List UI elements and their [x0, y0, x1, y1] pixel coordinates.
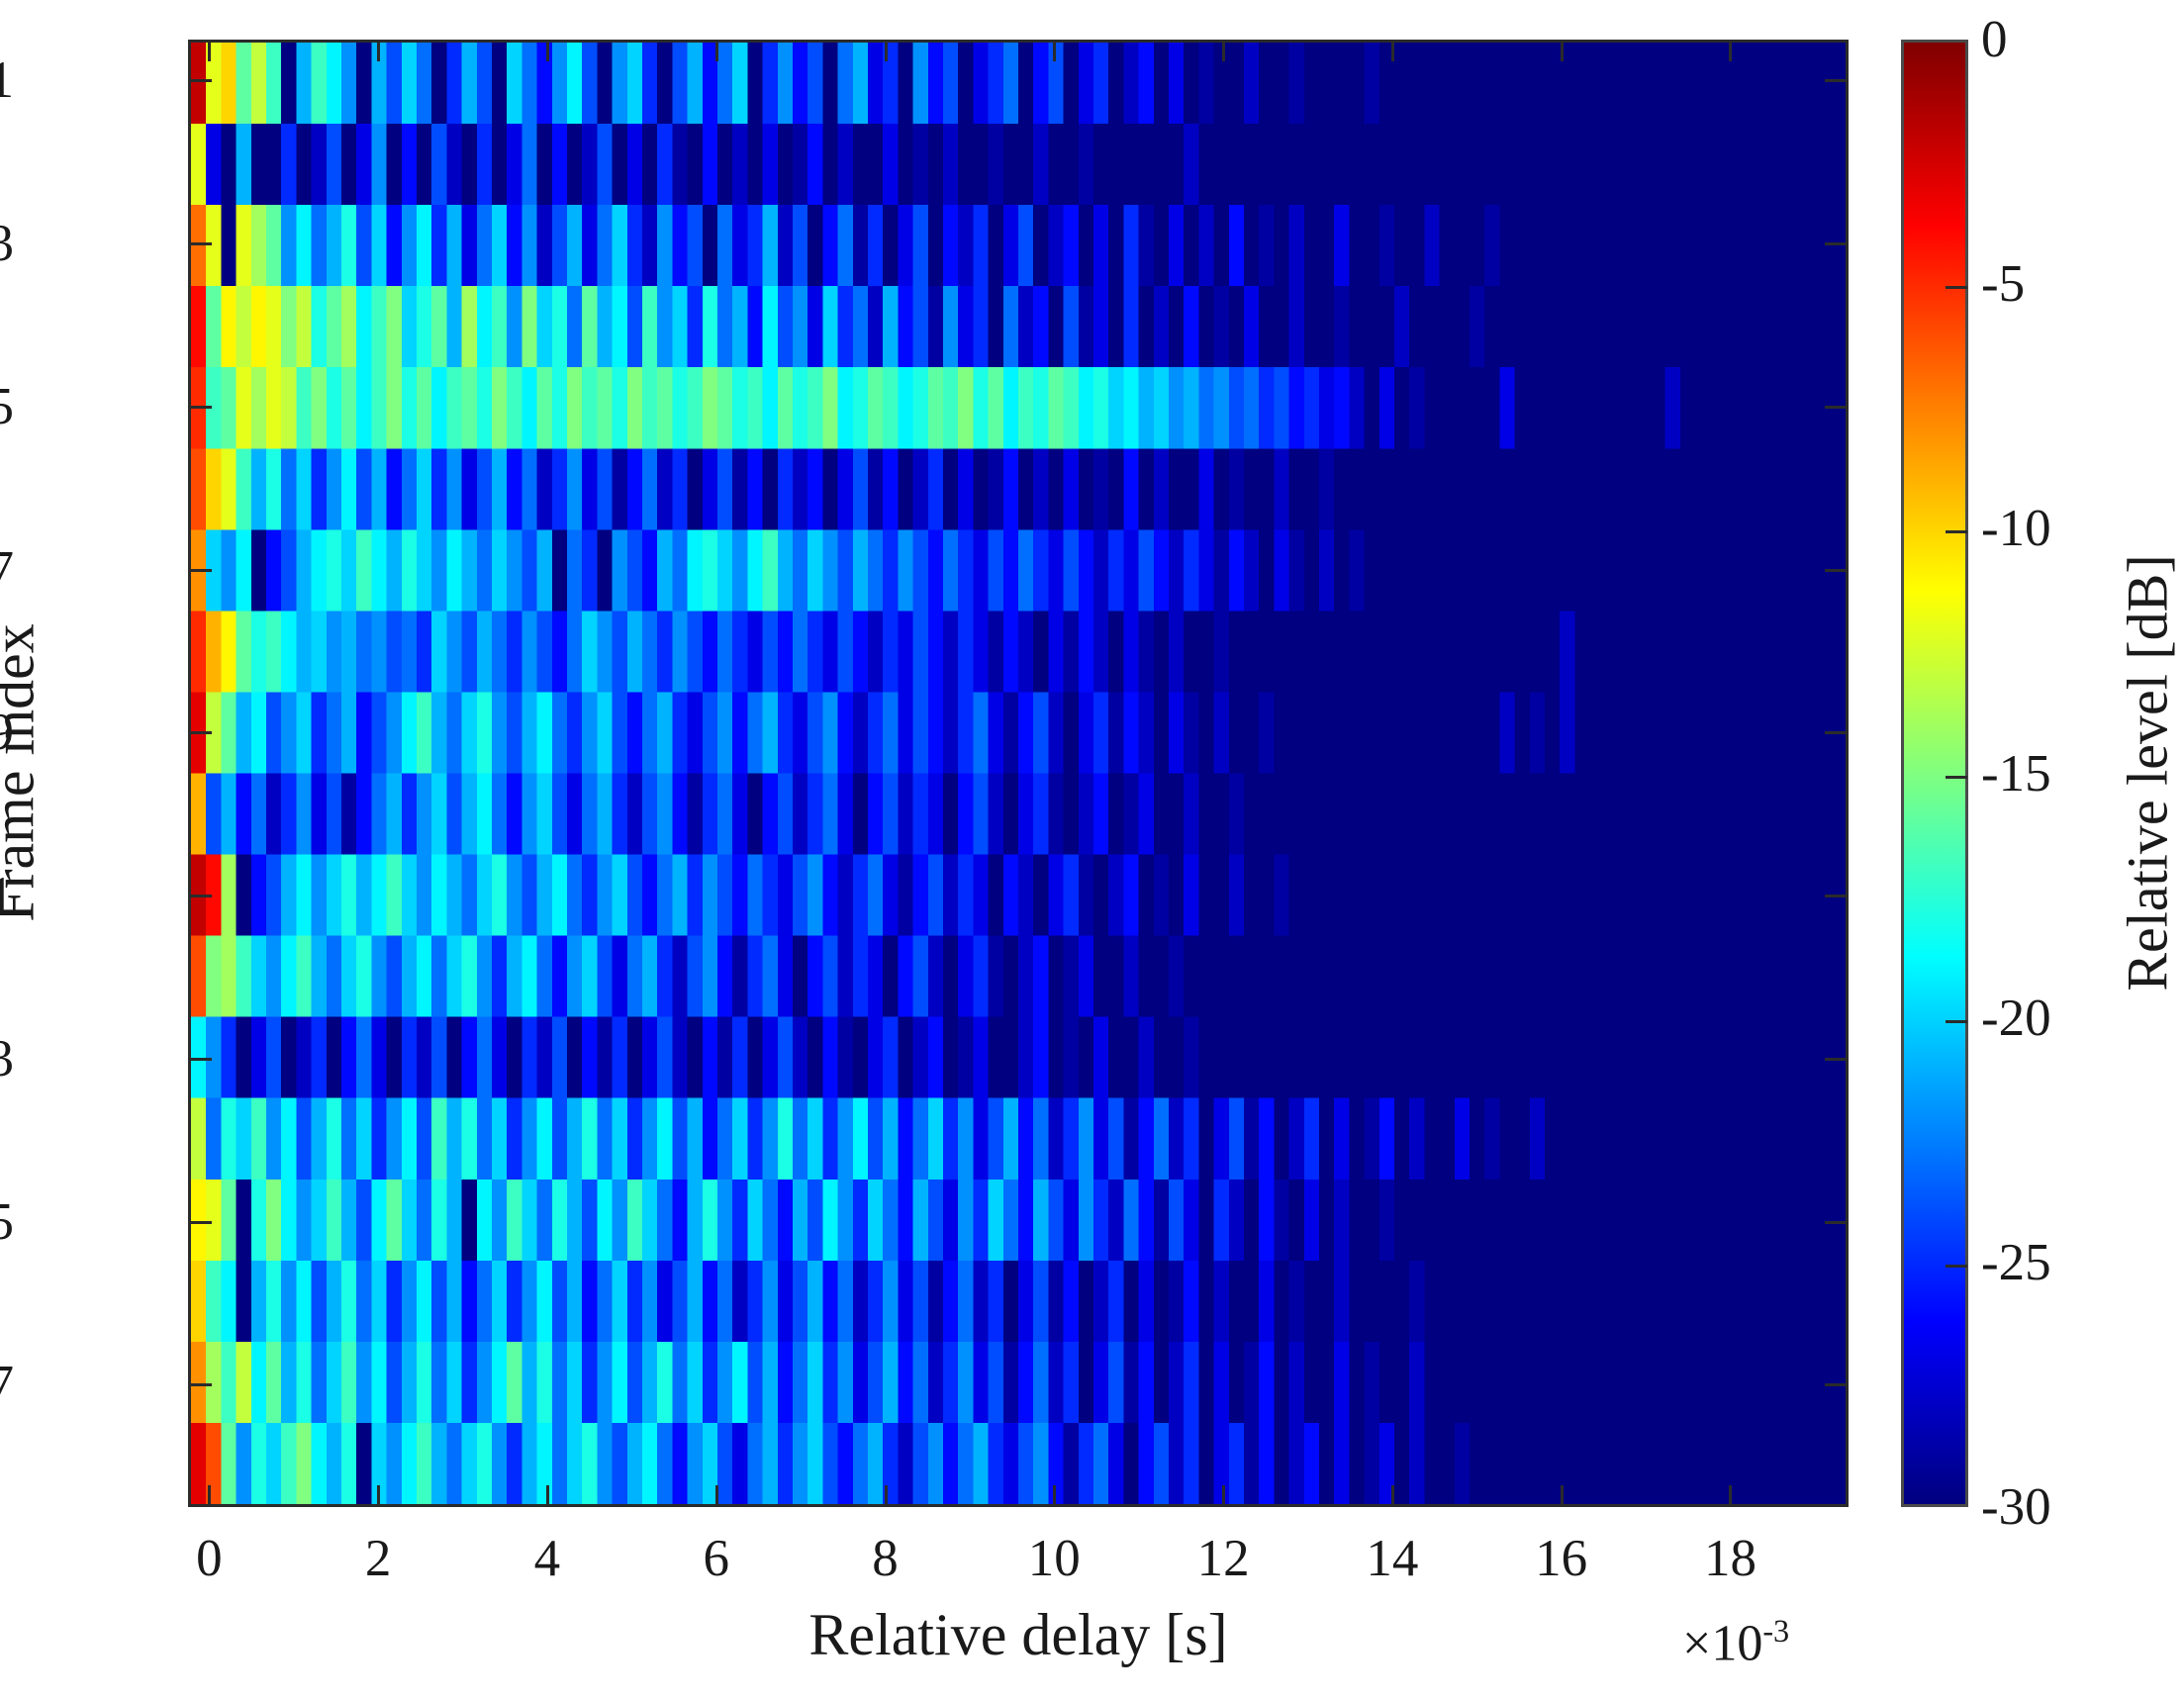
- y-tick-mark: [188, 406, 212, 409]
- y-tick-label: 7: [0, 540, 14, 600]
- colorbar-tick-mark: [1946, 1265, 1967, 1268]
- y-tick-mark-right: [1825, 1383, 1849, 1386]
- x-axis-title: Relative delay [s]: [808, 1601, 1227, 1669]
- y-tick-mark: [188, 1221, 212, 1224]
- x-tick-label: 6: [703, 1529, 729, 1588]
- y-tick-mark: [188, 731, 212, 734]
- y-tick-label: 11: [0, 866, 14, 925]
- x-tick-mark-top: [1053, 40, 1056, 61]
- colorbar-tick-label: -10: [1981, 499, 2051, 558]
- x-tick-label: 2: [365, 1529, 392, 1588]
- y-tick-label: 5: [0, 377, 14, 436]
- x-tick-mark-top: [1391, 40, 1394, 61]
- x-tick-label: 4: [534, 1529, 561, 1588]
- x-tick-label: 12: [1197, 1529, 1250, 1588]
- y-tick-label: 1: [0, 50, 14, 110]
- x-tick-label: 10: [1028, 1529, 1081, 1588]
- y-tick-mark-right: [1825, 406, 1849, 409]
- y-tick-mark-right: [1825, 569, 1849, 572]
- x-tick-mark-top: [1561, 40, 1564, 61]
- colorbar-tick-label: 0: [1981, 10, 2008, 69]
- heatmap-canvas: [191, 43, 1846, 1504]
- colorbar-tick-mark: [1946, 530, 1967, 533]
- colorbar-tick-mark: [1946, 286, 1967, 289]
- y-tick-label: 9: [0, 703, 14, 762]
- heatmap-cells: [191, 43, 1846, 1504]
- x-tick-mark: [1222, 1485, 1225, 1507]
- x-tick-mark: [1053, 1485, 1056, 1507]
- colorbar[interactable]: [1901, 40, 1968, 1507]
- x-tick-mark: [885, 1485, 888, 1507]
- x-tick-mark-top: [377, 40, 380, 61]
- y-tick-label: 3: [0, 214, 14, 273]
- colorbar-tick-label: -30: [1981, 1477, 2051, 1537]
- x-tick-mark: [208, 1485, 211, 1507]
- y-tick-label: 15: [0, 1192, 14, 1252]
- y-tick-mark-right: [1825, 242, 1849, 245]
- colorbar-tick-label: -5: [1981, 254, 2025, 314]
- y-tick-mark: [188, 569, 212, 572]
- colorbar-tick-mark: [1946, 776, 1967, 779]
- y-tick-mark: [188, 1383, 212, 1386]
- x-tick-label: 14: [1366, 1529, 1418, 1588]
- x-tick-label: 18: [1704, 1529, 1757, 1588]
- colorbar-tick-label: -15: [1981, 744, 2051, 803]
- y-tick-mark: [188, 242, 212, 245]
- colorbar-gradient: [1904, 43, 1965, 1504]
- x-tick-label: 8: [872, 1529, 899, 1588]
- x-tick-mark-top: [1729, 40, 1732, 61]
- heatmap-plot-area[interactable]: [188, 40, 1849, 1507]
- x-axis-exponent: ×10-3: [1682, 1613, 1789, 1672]
- x-tick-mark-top: [546, 40, 549, 61]
- x-tick-mark: [715, 1485, 718, 1507]
- x-tick-mark-top: [885, 40, 888, 61]
- y-tick-label: 17: [0, 1355, 14, 1414]
- y-tick-mark-right: [1825, 1058, 1849, 1061]
- y-tick-mark-right: [1825, 1221, 1849, 1224]
- y-tick-mark-right: [1825, 895, 1849, 897]
- x-tick-label: 16: [1535, 1529, 1587, 1588]
- y-tick-mark-right: [1825, 79, 1849, 82]
- y-tick-mark: [188, 79, 212, 82]
- x-tick-mark-top: [715, 40, 718, 61]
- x-tick-label: 0: [196, 1529, 223, 1588]
- x-tick-mark: [1729, 1485, 1732, 1507]
- y-tick-label: 13: [0, 1029, 14, 1088]
- y-tick-mark: [188, 1058, 212, 1061]
- x-tick-mark-top: [208, 40, 211, 61]
- x-tick-mark: [377, 1485, 380, 1507]
- x-tick-mark: [546, 1485, 549, 1507]
- colorbar-tick-label: -25: [1981, 1233, 2051, 1292]
- colorbar-title: Relative level [dB]: [2115, 554, 2181, 991]
- y-tick-mark-right: [1825, 731, 1849, 734]
- figure-root: Frame index 0246810121416181357911131517…: [0, 0, 2184, 1700]
- x-tick-mark: [1391, 1485, 1394, 1507]
- colorbar-tick-label: -20: [1981, 989, 2051, 1048]
- colorbar-tick-mark: [1946, 1020, 1967, 1023]
- x-tick-mark: [1561, 1485, 1564, 1507]
- x-tick-mark-top: [1222, 40, 1225, 61]
- y-tick-mark: [188, 895, 212, 897]
